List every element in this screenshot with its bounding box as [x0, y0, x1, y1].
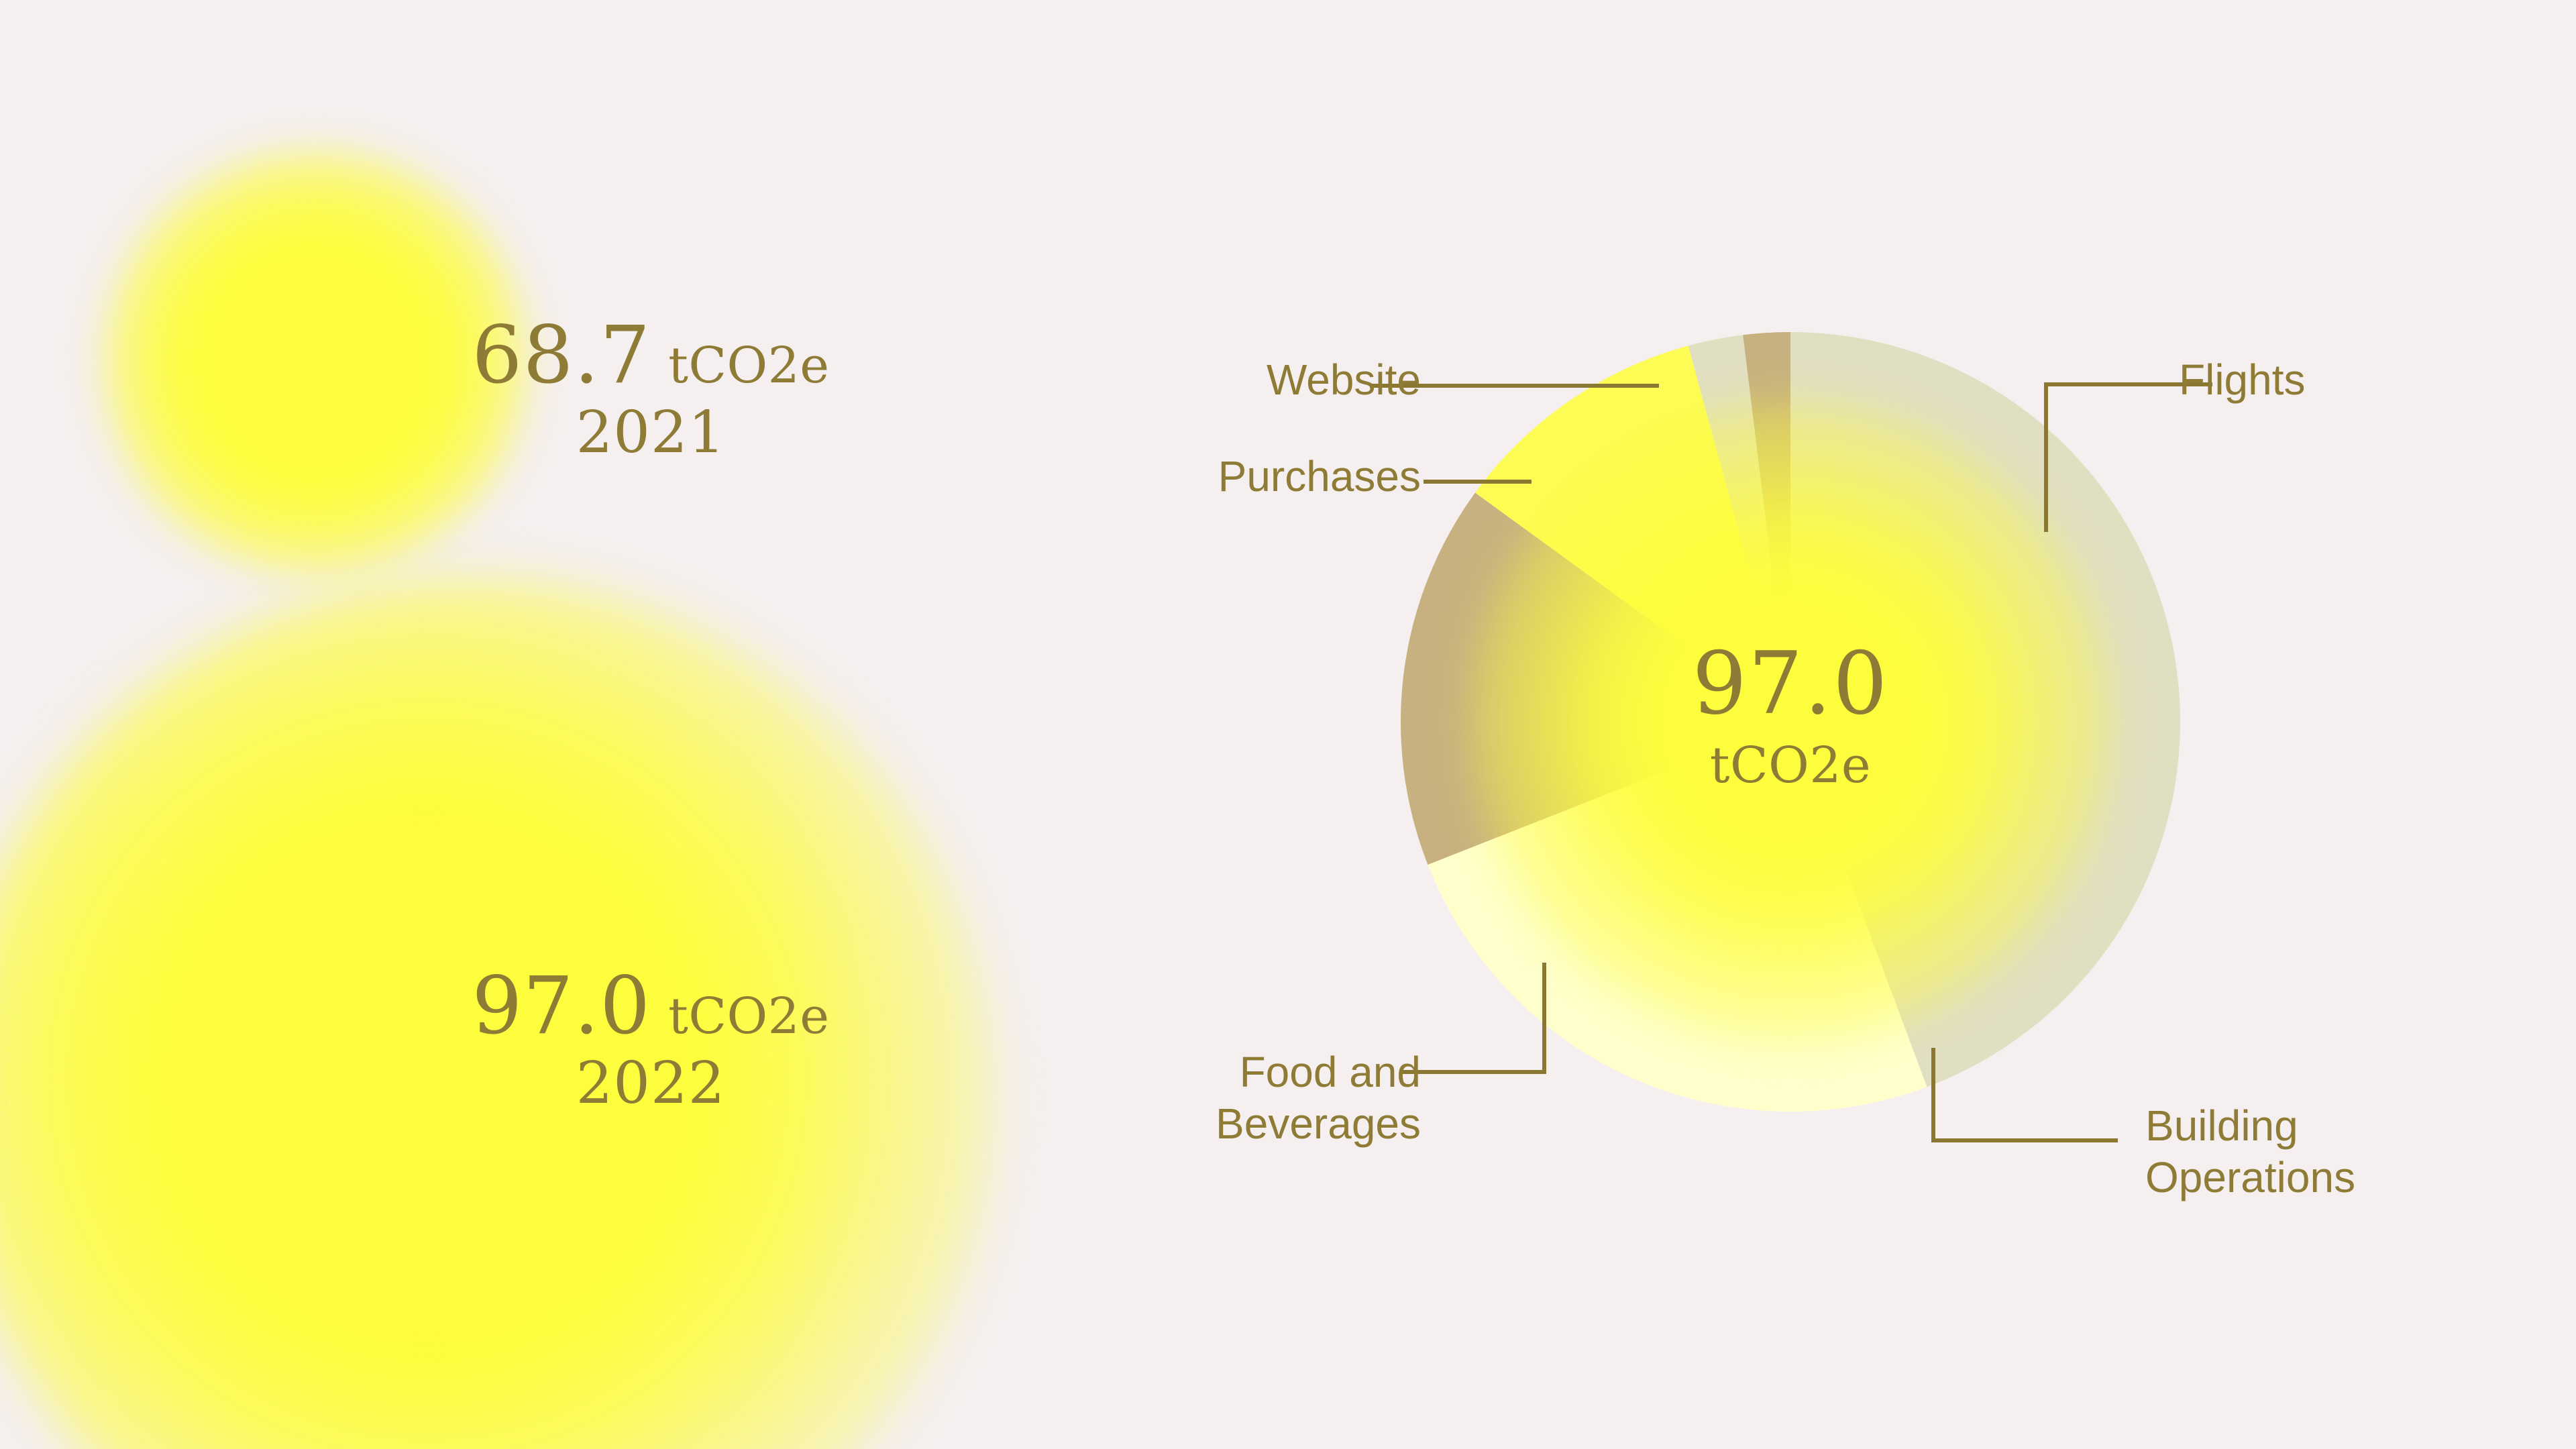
pie-label-building: Building Operations: [2145, 1100, 2561, 1203]
stat-2021-year: 2021: [376, 404, 926, 462]
leader-lines: [0, 0, 2576, 1449]
stat-2022-year: 2022: [376, 1055, 926, 1112]
pie-label-purchases: Purchases: [1072, 451, 1421, 502]
infographic-canvas: 68.7 tCO2e 2021 97.0 tCO2e 2022 97.0 tCO…: [0, 0, 2576, 1449]
pie-label-website: Website: [1139, 354, 1421, 406]
stat-2021-value: 68.7: [472, 315, 651, 394]
pie-label-food: Food and Beverages: [1038, 1046, 1421, 1150]
stat-2022-row: 97.0 tCO2e: [376, 966, 926, 1045]
stat-2021-row: 68.7 tCO2e: [376, 315, 926, 394]
stat-2021: 68.7 tCO2e 2021: [376, 315, 926, 462]
pie-chart: [1401, 332, 2180, 1112]
stat-2021-unit: tCO2e: [668, 341, 829, 390]
stat-2022-value: 97.0: [472, 966, 651, 1045]
pie-slices: [1401, 332, 2180, 1112]
stat-2022-unit: tCO2e: [668, 991, 829, 1041]
pie-label-flights: Flights: [2179, 354, 2528, 406]
stat-2022: 97.0 tCO2e 2022: [376, 966, 926, 1112]
